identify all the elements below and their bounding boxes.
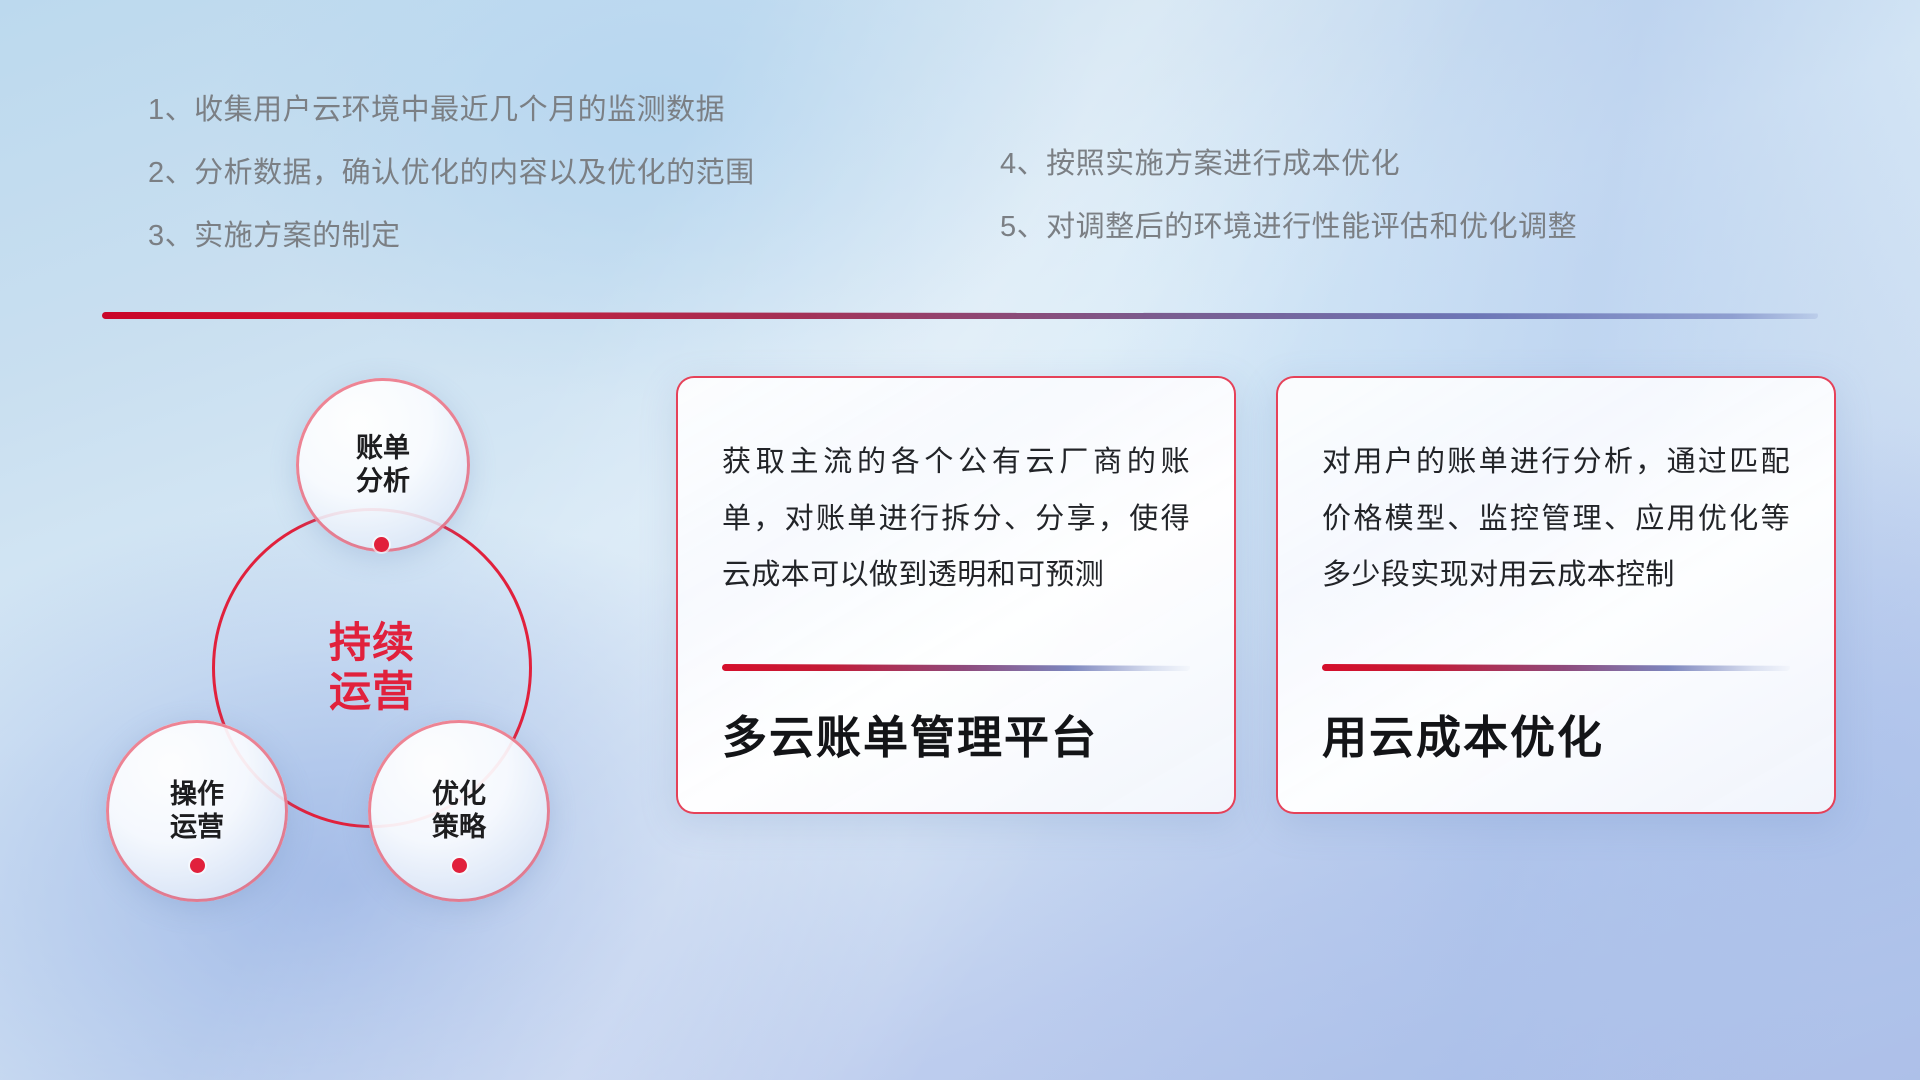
process-step-4: 4、按照实施方案进行成本优化 [1000,150,1577,179]
venn-connector-dot-bottom-left [190,858,205,873]
process-step-2: 2、分析数据，确认优化的内容以及优化的范围 [148,159,755,188]
card-body-text: 对用户的账单进行分析，通过匹配价格模型、监控管理、应用优化等多少段实现对用云成本… [1322,434,1790,604]
venn-center-label: 持续 运营 [212,508,532,828]
card-cloud-cost-optimization[interactable]: 对用户的账单进行分析，通过匹配价格模型、监控管理、应用优化等多少段实现对用云成本… [1276,376,1836,814]
process-list-left: 1、收集用户云环境中最近几个月的监测数据 2、分析数据，确认优化的内容以及优化的… [148,96,755,251]
slide-canvas: 1、收集用户云环境中最近几个月的监测数据 2、分析数据，确认优化的内容以及优化的… [0,0,1920,1080]
card-title: 用云成本优化 [1322,671,1790,812]
process-step-3: 3、实施方案的制定 [148,222,755,251]
card-multi-cloud-billing-platform[interactable]: 获取主流的各个公有云厂商的账单，对账单进行拆分、分享，使得云成本可以做到透明和可… [676,376,1236,814]
card-accent-rule [1322,664,1790,671]
venn-connector-dot-bottom-right [452,858,467,873]
venn-connector-dot-top [374,537,389,552]
card-accent-rule [722,664,1190,671]
card-body-text: 获取主流的各个公有云厂商的账单，对账单进行拆分、分享，使得云成本可以做到透明和可… [722,434,1190,604]
venn-diagram: 账单 分析 操作 运营 优化 策略 持续 运营 [96,340,566,940]
process-list-right: 4、按照实施方案进行成本优化 5、对调整后的环境进行性能评估和优化调整 [1000,150,1577,242]
card-title: 多云账单管理平台 [722,671,1190,812]
process-step-5: 5、对调整后的环境进行性能评估和优化调整 [1000,213,1577,242]
section-divider [102,312,1818,319]
process-step-1: 1、收集用户云环境中最近几个月的监测数据 [148,96,755,125]
